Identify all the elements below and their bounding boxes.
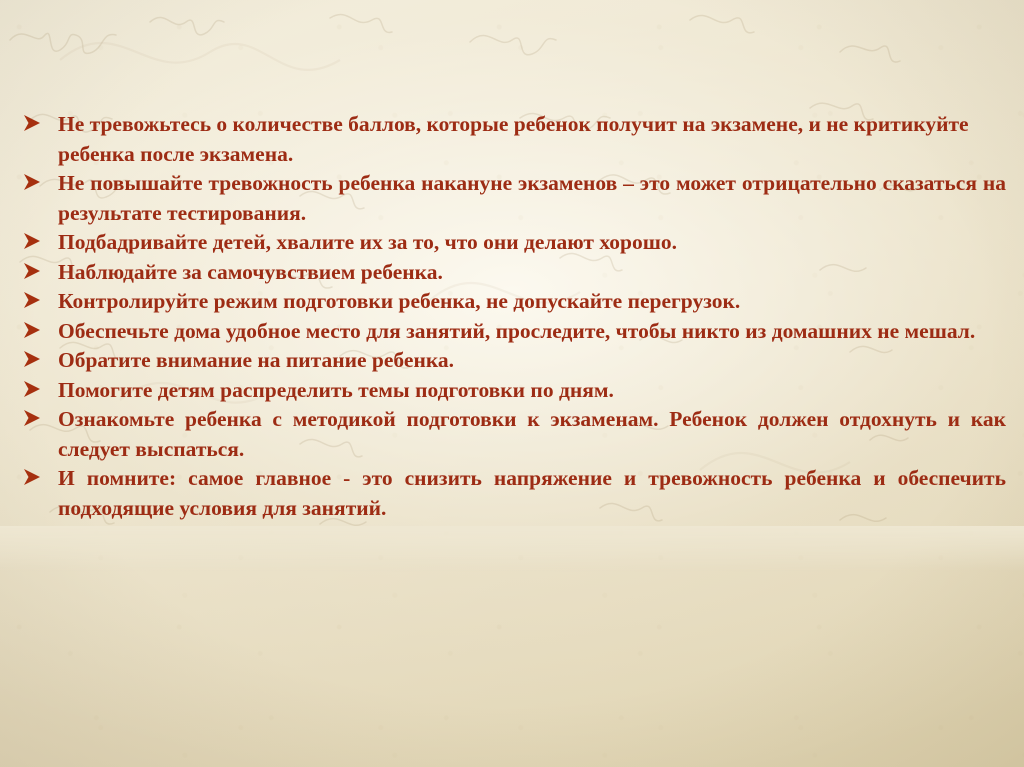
- list-item-text: Наблюдайте за самочувствием ребенка.: [58, 258, 1006, 288]
- list-item: Помогите детям распределить темы подгото…: [22, 376, 1006, 406]
- page-title: Советы психолога родителям: [125, 24, 898, 82]
- list-item: Не повышайте тревожность ребенка наканун…: [22, 169, 1006, 228]
- list-item: И помните: самое главное - это снизить н…: [22, 464, 1006, 523]
- list-item-text: Подбадривайте детей, хвалите их за то, ч…: [58, 228, 1006, 258]
- list-item-text: И помните: самое главное - это снизить н…: [58, 464, 1006, 523]
- list-item: Обратите внимание на питание ребенка.: [22, 346, 1006, 376]
- arrow-head-bullet-icon: [22, 317, 58, 340]
- list-item-text: Контролируйте режим подготовки ребенка, …: [58, 287, 1006, 317]
- illustration-blend-overlay: [0, 526, 1024, 572]
- arrow-head-bullet-icon: [22, 258, 58, 281]
- list-item: Контролируйте режим подготовки ребенка, …: [22, 287, 1006, 317]
- list-item: Ознакомьте ребенка с методикой подготовк…: [22, 405, 1006, 464]
- arrow-head-bullet-icon: [22, 405, 58, 428]
- bottom-illustration: [0, 552, 1024, 767]
- list-item-text: Обеспечьте дома удобное место для заняти…: [58, 317, 1006, 347]
- list-item-text: Обратите внимание на питание ребенка.: [58, 346, 1006, 376]
- advice-list: Не тревожьтесь о количестве баллов, кото…: [22, 110, 1006, 523]
- arrow-head-bullet-icon: [22, 228, 58, 251]
- list-item: Не тревожьтесь о количестве баллов, кото…: [22, 110, 1006, 169]
- list-item: Обеспечьте дома удобное место для заняти…: [22, 317, 1006, 347]
- list-item: Наблюдайте за самочувствием ребенка.: [22, 258, 1006, 288]
- list-item-text: Помогите детям распределить темы подгото…: [58, 376, 1006, 406]
- list-item-text: Не повышайте тревожность ребенка наканун…: [58, 169, 1006, 228]
- arrow-head-bullet-icon: [22, 287, 58, 310]
- arrow-head-bullet-icon: [22, 110, 58, 133]
- arrow-head-bullet-icon: [22, 376, 58, 399]
- title-container: Советы психолога родителям: [0, 24, 1024, 82]
- arrow-head-bullet-icon: [22, 169, 58, 192]
- list-item-text: Ознакомьте ребенка с методикой подготовк…: [58, 405, 1006, 464]
- list-item: Подбадривайте детей, хвалите их за то, ч…: [22, 228, 1006, 258]
- arrow-head-bullet-icon: [22, 346, 58, 369]
- slide-root: Советы психолога родителям Не тревожьтес…: [0, 0, 1024, 767]
- arrow-head-bullet-icon: [22, 464, 58, 487]
- list-item-text: Не тревожьтесь о количестве баллов, кото…: [58, 110, 1006, 169]
